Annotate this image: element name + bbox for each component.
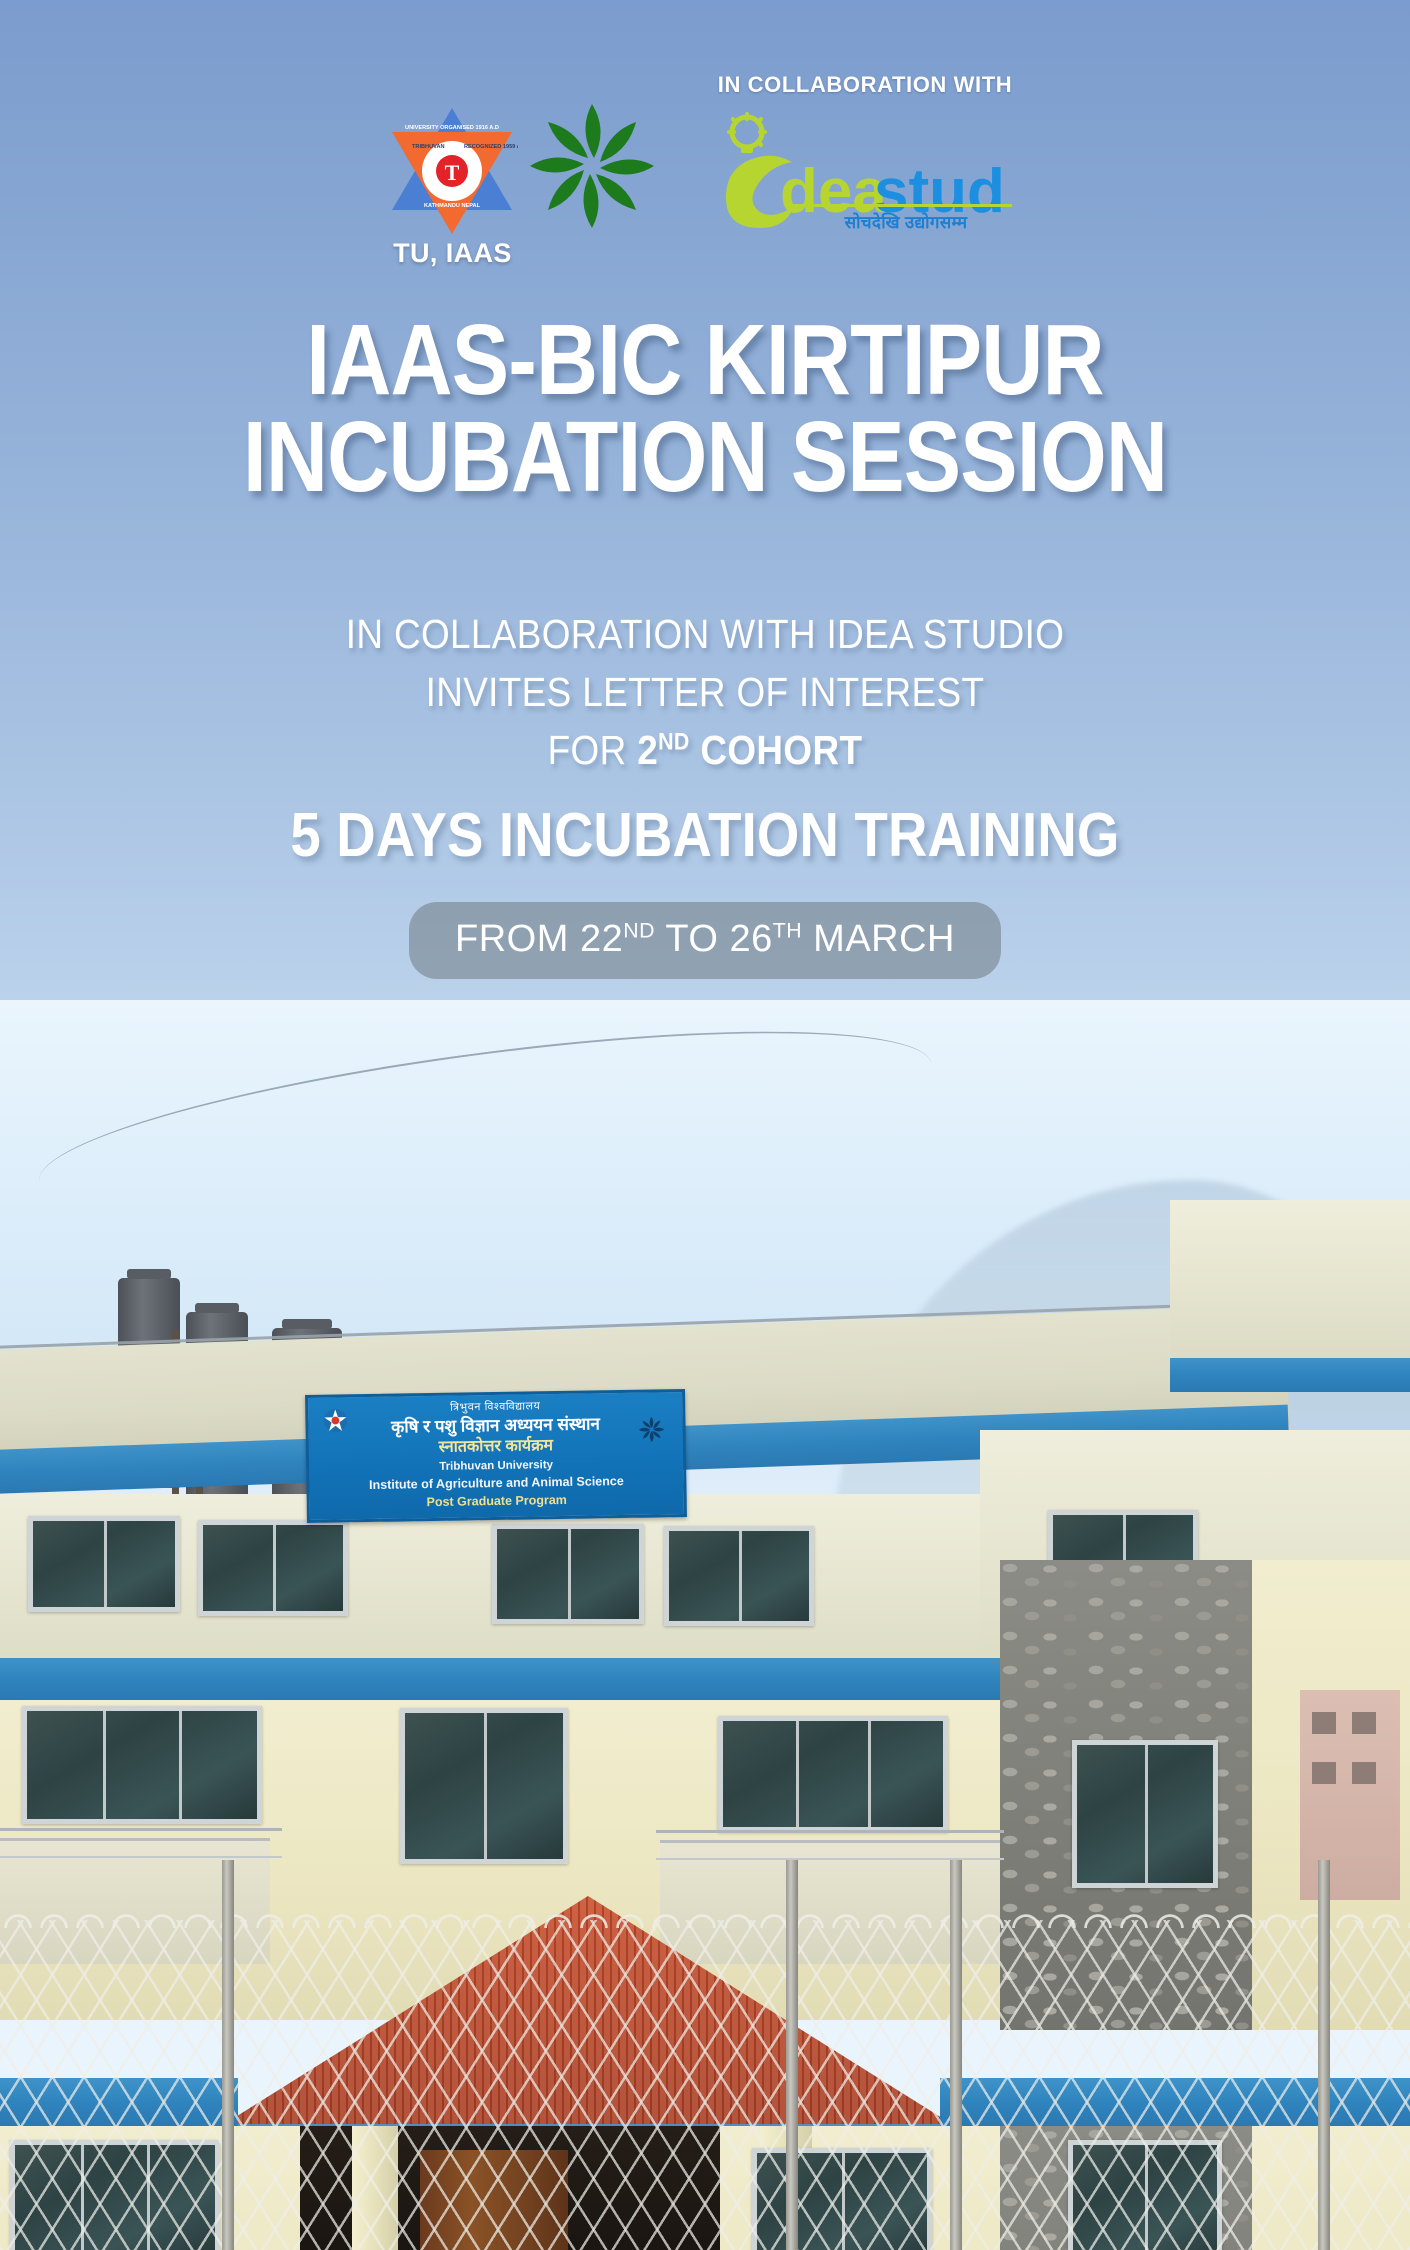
svg-text:RECOGNIZED 1959 A.D: RECOGNIZED 1959 A.D bbox=[464, 144, 518, 150]
date-to-ordinal: TH bbox=[773, 918, 802, 942]
fence-post bbox=[950, 1860, 962, 2250]
blue-band-tower bbox=[1170, 1358, 1410, 1392]
page-title: IAAS-BIC KIRTIPUR INCUBATION SESSION bbox=[99, 312, 1312, 506]
window bbox=[664, 1526, 814, 1626]
iaas-leaf-logo-icon bbox=[522, 96, 662, 236]
cohort-prefix: FOR bbox=[548, 727, 638, 773]
window bbox=[1072, 1740, 1218, 1888]
title-line-2: INCUBATION SESSION bbox=[99, 409, 1312, 506]
date-to-label: TO bbox=[655, 918, 730, 960]
cohort-number: 2 bbox=[637, 727, 658, 773]
poster-root: त्रिभुवन विश्वविद्यालय कृषि र पशु विज्ञा… bbox=[0, 0, 1410, 2250]
date-month: MARCH bbox=[802, 918, 955, 960]
balcony-railing bbox=[656, 1830, 1004, 1860]
svg-text:TRIBHUVAN: TRIBHUVAN bbox=[412, 144, 445, 150]
balcony-railing bbox=[0, 1828, 282, 1858]
window bbox=[28, 1516, 180, 1612]
window bbox=[492, 1524, 644, 1624]
title-line-1: IAAS-BIC KIRTIPUR bbox=[306, 304, 1104, 416]
fence-post bbox=[222, 1860, 234, 2250]
window bbox=[198, 1520, 348, 1616]
date-from-ordinal: ND bbox=[623, 918, 655, 942]
right-tower-wall bbox=[1170, 1200, 1410, 1360]
date-day-to: 26 bbox=[729, 918, 772, 960]
window bbox=[22, 1706, 262, 1824]
poster-header: IN COLLABORATION WITH T UNIVERSITY ORGAN… bbox=[0, 0, 1410, 1010]
window bbox=[718, 1716, 948, 1832]
svg-text:KATHMANDU NEPAL: KATHMANDU NEPAL bbox=[424, 203, 481, 209]
tribhuvan-university-logo-icon: T UNIVERSITY ORGANISED 1916 A.D KATHMAND… bbox=[386, 102, 518, 240]
fence-post bbox=[1318, 1860, 1330, 2250]
subtitle-line-3: FOR 2ND COHORT bbox=[71, 721, 1340, 779]
collaboration-label: IN COLLABORATION WITH bbox=[690, 72, 1040, 98]
fence-post bbox=[786, 1860, 798, 2250]
svg-text:T: T bbox=[445, 160, 460, 185]
cohort-ordinal-suffix: ND bbox=[658, 729, 690, 756]
background-pink-building bbox=[1300, 1690, 1400, 1900]
subtitle-block: IN COLLABORATION WITH IDEA STUDIO INVITE… bbox=[71, 605, 1340, 780]
svg-text:UNIVERSITY ORGANISED 1916 A.D: UNIVERSITY ORGANISED 1916 A.D bbox=[405, 125, 499, 131]
subtitle-line-1: IN COLLABORATION WITH IDEA STUDIO bbox=[71, 605, 1340, 663]
chain-link-fence bbox=[0, 1920, 1410, 2250]
date-day-from: 22 bbox=[580, 918, 623, 960]
iaas-leaf-icon bbox=[636, 1414, 666, 1444]
cohort-word: COHORT bbox=[690, 727, 863, 773]
building-photograph: त्रिभुवन विश्वविद्यालय कृषि र पशु विज्ञा… bbox=[0, 1000, 1410, 2250]
subtitle-line-2: INVITES LETTER OF INTEREST bbox=[71, 663, 1340, 721]
institution-signboard: त्रिभुवन विश्वविद्यालय कृषि र पशु विज्ञा… bbox=[305, 1389, 687, 1523]
idea-logo-rule bbox=[786, 204, 1012, 207]
window bbox=[400, 1708, 568, 1864]
idea-logo-tagline: सोचदेखि उद्योगसम्म bbox=[786, 210, 1026, 233]
date-badge: FROM 22ND TO 26TH MARCH bbox=[409, 902, 1001, 979]
date-from-label: FROM bbox=[455, 918, 580, 960]
tu-logo-caption: TU, IAAS bbox=[330, 238, 575, 269]
blue-band-mid bbox=[0, 1658, 1000, 1700]
training-headline: 5 DAYS INCUBATION TRAINING bbox=[85, 800, 1326, 871]
